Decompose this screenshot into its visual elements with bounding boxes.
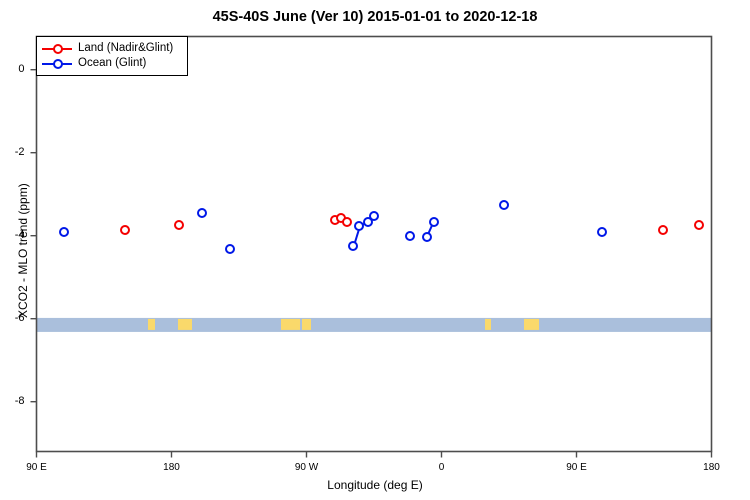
basemap-ocean <box>37 318 712 332</box>
axis-tick-marks <box>31 70 712 458</box>
legend-label-land: Land (Nadir&Glint) <box>78 43 173 55</box>
y-tick-label: -4 <box>3 229 25 241</box>
basemap-land-segment <box>524 319 539 330</box>
basemap-land-segment <box>148 319 155 330</box>
legend-marker-land-icon <box>42 48 72 50</box>
legend-label-ocean: Ocean (Glint) <box>78 58 146 70</box>
y-tick-label: -8 <box>3 395 25 407</box>
x-tick-label: 180 <box>682 462 742 473</box>
y-tick-label: 0 <box>3 63 25 75</box>
x-tick-label: 0 <box>412 462 472 473</box>
data-point-land[interactable] <box>174 220 184 230</box>
x-tick-label: 90 E <box>547 462 607 473</box>
x-tick-label: 180 <box>142 462 202 473</box>
data-point-ocean[interactable] <box>59 227 69 237</box>
y-tick-label: -2 <box>3 146 25 158</box>
data-point-ocean[interactable] <box>597 227 607 237</box>
basemap-band-layer <box>37 318 712 332</box>
data-point-ocean[interactable] <box>422 232 432 242</box>
data-point-land[interactable] <box>342 217 352 227</box>
figure-canvas: 45S-40S June (Ver 10) 2015-01-01 to 2020… <box>0 0 750 500</box>
basemap-land-segment <box>281 319 300 330</box>
basemap-land-segment <box>302 319 311 330</box>
data-point-ocean[interactable] <box>429 217 439 227</box>
legend-entry-ocean[interactable]: Ocean (Glint) <box>42 56 182 71</box>
basemap-land-segment <box>178 319 192 330</box>
x-tick-label: 90 E <box>7 462 67 473</box>
legend-marker-ocean-icon <box>42 63 72 65</box>
legend[interactable]: Land (Nadir&Glint) Ocean (Glint) <box>36 36 188 76</box>
y-tick-label: -6 <box>3 312 25 324</box>
legend-entry-land[interactable]: Land (Nadir&Glint) <box>42 41 182 56</box>
data-point-ocean[interactable] <box>405 231 415 241</box>
data-point-ocean[interactable] <box>348 241 358 251</box>
data-point-ocean[interactable] <box>225 244 235 254</box>
data-point-ocean[interactable] <box>369 211 379 221</box>
plot-frame <box>37 37 712 452</box>
x-tick-label: 90 W <box>277 462 337 473</box>
basemap-land-segment <box>485 319 491 330</box>
